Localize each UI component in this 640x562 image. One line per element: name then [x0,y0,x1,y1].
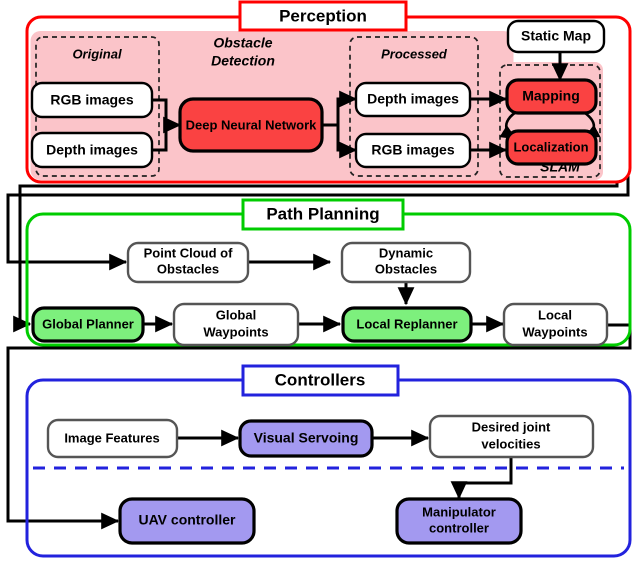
node-rgb-out-label: RGB images [371,142,454,158]
architecture-diagram: Original Obstacle Detection Processed SL… [0,0,640,562]
node-uav-controller-label: UAV controller [139,512,237,528]
node-static-map[interactable]: Static Map [508,21,604,52]
node-mapping[interactable]: Mapping [507,80,596,113]
node-localization-label: Localization [513,139,588,154]
node-visual-servoing-label: Visual Servoing [254,430,359,446]
zone-original-label: Original [72,46,122,61]
node-rgb-in-label: RGB images [50,92,133,108]
diagram-canvas: Original Obstacle Detection Processed SL… [0,0,640,562]
node-dynamic-obstacles-label-line2: Obstacles [375,261,437,276]
node-manipulator-controller-label-line1: Manipulator [422,504,496,519]
node-rgb-out[interactable]: RGB images [356,134,470,167]
node-global-planner-label: Global Planner [42,316,134,331]
node-dnn[interactable]: Deep Neural Network [180,99,322,151]
node-global-waypoints-label-line2: Waypoints [203,324,268,339]
node-dynamic-obstacles[interactable]: Dynamic Obstacles [342,243,470,282]
node-manipulator-controller-label-line2: controller [429,520,489,535]
node-depth-out-label: Depth images [367,91,459,107]
node-point-cloud-label-line2: Obstacles [157,261,219,276]
node-local-replanner-label: Local Replanner [356,316,457,331]
node-visual-servoing[interactable]: Visual Servoing [240,421,372,456]
group-path-planning: Point Cloud of Obstacles Dynamic Obstacl… [27,200,630,345]
node-depth-out[interactable]: Depth images [356,83,470,116]
edge-desired-joint-velocities-to-manipulator-controller [459,457,511,498]
node-desired-joint-velocities[interactable]: Desired joint velocities [430,416,593,457]
node-global-waypoints[interactable]: Global Waypoints [174,304,298,345]
node-static-map-label: Static Map [521,28,591,44]
node-global-planner[interactable]: Global Planner [33,308,143,341]
perception-title: Perception [279,6,367,25]
node-dnn-label: Deep Neural Network [186,117,318,132]
group-controllers: Image Features Visual Servoing Desired j… [27,366,630,556]
node-manipulator-controller[interactable]: Manipulator controller [397,499,521,543]
zone-processed-label: Processed [381,46,448,61]
node-mapping-label: Mapping [522,88,580,104]
node-rgb-in[interactable]: RGB images [32,83,152,117]
node-global-waypoints-label-line1: Global [216,307,256,322]
zone-obstacle-detection-label-line2: Detection [211,53,275,69]
path-planning-title: Path Planning [266,204,379,223]
node-image-features-label: Image Features [64,430,159,445]
node-localization[interactable]: Localization [507,131,596,164]
node-local-waypoints-label-line1: Local [538,307,572,322]
node-uav-controller[interactable]: UAV controller [120,499,254,543]
controllers-title: Controllers [275,370,366,389]
node-point-cloud-label-line1: Point Cloud of [144,245,233,260]
group-perception: Original Obstacle Detection Processed SL… [27,2,630,182]
node-image-features[interactable]: Image Features [48,420,177,457]
node-depth-in-label: Depth images [46,142,138,158]
node-point-cloud[interactable]: Point Cloud of Obstacles [128,243,248,282]
node-local-waypoints-label-line2: Waypoints [522,324,587,339]
node-dynamic-obstacles-label-line1: Dynamic [379,245,433,260]
node-depth-in[interactable]: Depth images [32,133,152,167]
node-desired-joint-velocities-label-line1: Desired joint [472,419,551,434]
zone-obstacle-detection-label-line1: Obstacle [213,35,272,51]
node-local-waypoints[interactable]: Local Waypoints [504,304,607,345]
node-local-replanner[interactable]: Local Replanner [343,308,471,341]
node-desired-joint-velocities-label-line2: velocities [481,436,540,451]
